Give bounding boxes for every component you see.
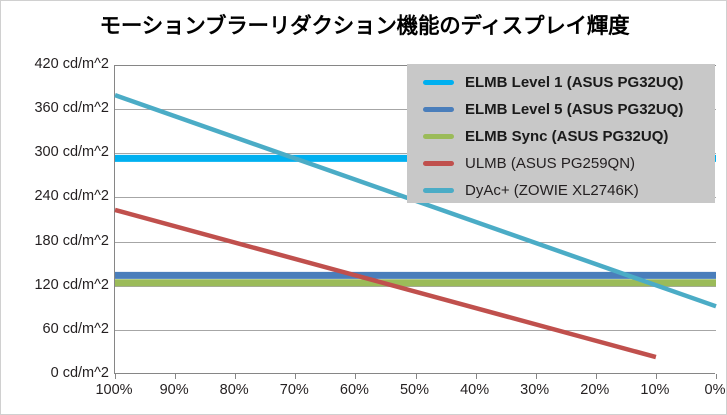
x-tick-50 [416,374,417,379]
chart-container: モーションブラーリダクション機能のディスプレイ輝度 420 cd/m^2360 … [0,0,727,415]
legend-item[interactable]: ELMB Level 1 (ASUS PG32UQ) [407,69,715,96]
y-axis-labels: 420 cd/m^2360 cd/m^2300 cd/m^2240 cd/m^2… [1,1,109,415]
y-axis-tick-label: 0 cd/m^2 [4,365,109,381]
legend-item[interactable]: ELMB Sync (ASUS PG32UQ) [407,123,715,150]
x-tick-60 [355,374,356,379]
x-tick-100 [115,374,116,379]
chart-title: モーションブラーリダクション機能のディスプレイ輝度 [1,9,727,40]
legend-color-swatch [423,107,454,112]
x-tick-90 [175,374,176,379]
x-axis-tick-label: 0% [680,382,727,398]
legend-item-label: ELMB Level 5 (ASUS PG32UQ) [465,101,683,118]
legend-item-label: ULMB (ASUS PG259QN) [465,155,635,172]
x-tick-80 [235,374,236,379]
legend-item[interactable]: ULMB (ASUS PG259QN) [407,150,715,177]
x-tick-0 [716,374,717,379]
y-axis-tick-label: 180 cd/m^2 [4,233,109,249]
y-axis-tick-label: 240 cd/m^2 [4,188,109,204]
legend-color-swatch [423,161,454,166]
x-tick-70 [295,374,296,379]
legend-color-swatch [423,188,454,193]
legend-item[interactable]: DyAc+ (ZOWIE XL2746K) [407,177,715,204]
legend-color-swatch [423,134,454,139]
legend-color-swatch [423,80,454,85]
y-axis-tick-label: 420 cd/m^2 [4,56,109,72]
legend-item-label: ELMB Sync (ASUS PG32UQ) [465,128,668,145]
legend-item-label: DyAc+ (ZOWIE XL2746K) [465,182,639,199]
y-axis-tick-label: 360 cd/m^2 [4,100,109,116]
legend-item[interactable]: ELMB Level 5 (ASUS PG32UQ) [407,96,715,123]
legend-item-label: ELMB Level 1 (ASUS PG32UQ) [465,74,683,91]
x-tick-10 [656,374,657,379]
x-tick-30 [536,374,537,379]
y-axis-tick-label: 120 cd/m^2 [4,277,109,293]
x-tick-40 [476,374,477,379]
y-axis-tick-label: 300 cd/m^2 [4,144,109,160]
x-tick-20 [596,374,597,379]
y-axis-tick-label: 60 cd/m^2 [4,321,109,337]
chart-legend: ELMB Level 1 (ASUS PG32UQ)ELMB Level 5 (… [407,64,715,203]
